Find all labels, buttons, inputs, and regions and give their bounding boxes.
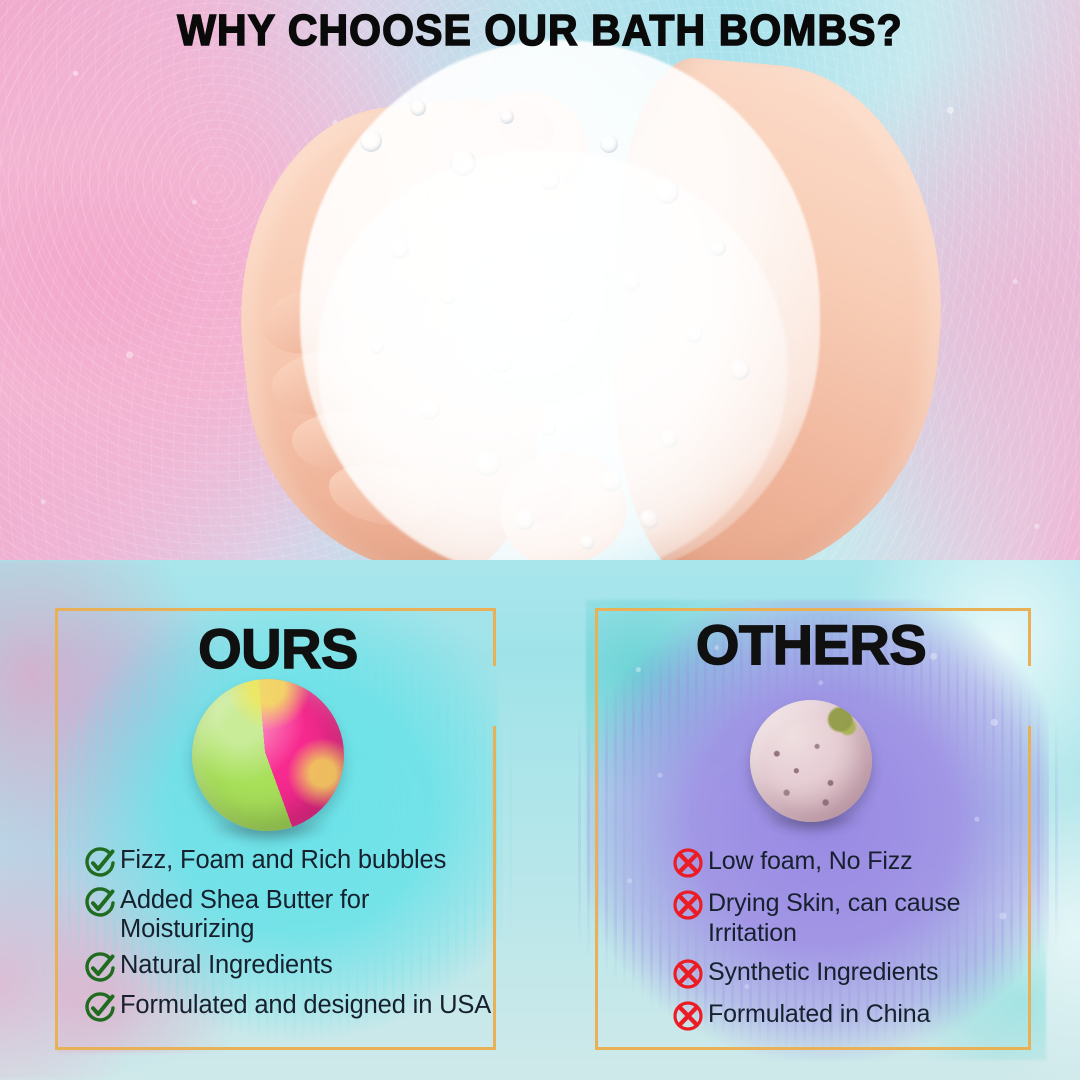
cross-circle-icon <box>672 1000 704 1032</box>
list-item: Low foam, No Fizz <box>672 846 1032 879</box>
cross-circle-icon <box>672 958 704 990</box>
list-item-label: Low foam, No Fizz <box>708 846 912 876</box>
list-item: Formulated in China <box>672 999 1032 1032</box>
ours-feature-list: Fizz, Foam and Rich bubbles Added Shea B… <box>84 846 504 1031</box>
cross-circle-icon <box>672 847 704 879</box>
list-item: Natural Ingredients <box>84 951 504 984</box>
page-title: WHY CHOOSE OUR BATH BOMBS? <box>38 8 1042 54</box>
others-feature-list: Low foam, No Fizz Drying Skin, can cause… <box>672 846 1032 1041</box>
foam-front-overlay <box>318 150 788 580</box>
others-bath-bomb-image <box>750 700 872 822</box>
list-item-label: Formulated in China <box>708 999 930 1029</box>
cross-circle-icon <box>672 889 704 921</box>
list-item-label: Drying Skin, can cause Irritation <box>708 888 1032 948</box>
hero-photo <box>0 0 1080 612</box>
check-circle-icon <box>84 952 116 984</box>
others-heading: OTHERS <box>586 612 1036 677</box>
check-circle-icon <box>84 992 116 1024</box>
list-item: Fizz, Foam and Rich bubbles <box>84 846 504 879</box>
list-item: Synthetic Ingredients <box>672 957 1032 990</box>
list-item-label: Formulated and designed in USA <box>120 991 491 1020</box>
ours-bath-bomb-image <box>192 679 344 831</box>
check-circle-icon <box>84 887 116 919</box>
list-item: Added Shea Butter for Moisturizing <box>84 886 504 944</box>
list-item-label: Synthetic Ingredients <box>708 957 938 987</box>
list-item: Drying Skin, can cause Irritation <box>672 888 1032 948</box>
ours-heading: OURS <box>58 616 498 681</box>
list-item-label: Natural Ingredients <box>120 951 333 980</box>
check-circle-icon <box>84 847 116 879</box>
list-item-label: Added Shea Butter for Moisturizing <box>120 886 504 944</box>
list-item-label: Fizz, Foam and Rich bubbles <box>120 846 446 875</box>
product-comparison-infographic: WHY CHOOSE OUR BATH BOMBS? OURS OTHERS <box>0 0 1080 1080</box>
list-item: Formulated and designed in USA <box>84 991 504 1024</box>
